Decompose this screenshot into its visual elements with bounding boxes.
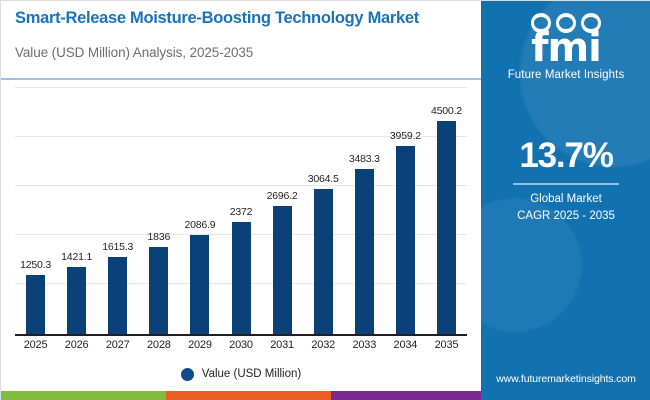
x-axis-label: 2033: [344, 339, 385, 357]
bar-value-label: 3959.2: [390, 130, 421, 142]
bar-group: 4500.2: [426, 87, 467, 334]
x-axis-label: 2028: [138, 339, 179, 357]
bar-group: 3483.3: [344, 87, 385, 334]
plot-area: 1250.31421.11615.318362086.923722696.230…: [15, 87, 467, 335]
chart-subtitle: Value (USD Million) Analysis, 2025-2035: [15, 45, 253, 60]
logo-wordmark: fmi: [481, 27, 650, 69]
cagr-caption-line-1: Global Market: [481, 193, 650, 205]
bar-value-label: 1250.3: [20, 259, 51, 271]
bar-group: 2696.2: [262, 87, 303, 334]
strip-segment-green: [1, 391, 166, 400]
bar-value-label: 1615.3: [102, 241, 133, 253]
bar[interactable]: [396, 146, 415, 334]
bar-group: 3064.5: [303, 87, 344, 334]
bar-value-label: 1836: [148, 231, 171, 243]
bar[interactable]: [149, 247, 168, 334]
x-axis-label: 2034: [385, 339, 426, 357]
bar[interactable]: [232, 222, 251, 334]
legend-label: Value (USD Million): [202, 368, 301, 380]
bar-value-label: 1421.1: [61, 251, 92, 263]
chart-legend: Value (USD Million): [1, 363, 481, 385]
bar-value-label: 2696.2: [267, 190, 298, 202]
bar-group: 2372: [220, 87, 261, 334]
bar-group: 1836: [138, 87, 179, 334]
color-strip: [1, 391, 481, 400]
bar-series: 1250.31421.11615.318362086.923722696.230…: [15, 87, 467, 334]
chart-header: Smart-Release Moisture-Boosting Technolo…: [1, 1, 481, 79]
chart-infographic: Smart-Release Moisture-Boosting Technolo…: [0, 0, 650, 400]
bar[interactable]: [314, 189, 333, 334]
legend-marker-icon: [181, 368, 194, 381]
bar[interactable]: [108, 257, 127, 334]
bar-value-label: 4500.2: [431, 105, 462, 117]
bar-group: 1421.1: [56, 87, 97, 334]
bar[interactable]: [190, 235, 209, 334]
page-title: Smart-Release Moisture-Boosting Technolo…: [15, 9, 475, 28]
x-axis-labels: 2025202620272028202920302031203220332034…: [15, 339, 467, 357]
bar[interactable]: [355, 169, 374, 334]
cagr-caption-line-2: CAGR 2025 - 2035: [481, 210, 650, 222]
x-axis-label: 2031: [262, 339, 303, 357]
x-axis-label: 2032: [303, 339, 344, 357]
chart-region: Smart-Release Moisture-Boosting Technolo…: [1, 1, 481, 400]
bar-group: 2086.9: [179, 87, 220, 334]
website-url: www.futuremarketinsights.com: [481, 373, 650, 385]
bar[interactable]: [67, 267, 86, 334]
x-axis-label: 2027: [97, 339, 138, 357]
bar-value-label: 3483.3: [349, 153, 380, 165]
bar-value-label: 3064.5: [308, 173, 339, 185]
cagr-value: 13.7%: [481, 136, 650, 176]
bar-value-label: 2086.9: [184, 219, 215, 231]
strip-segment-purple: [331, 391, 481, 400]
brand-panel: fmi Future Market Insights 13.7% Global …: [481, 1, 650, 400]
x-axis-label: 2029: [179, 339, 220, 357]
fmi-logo: fmi Future Market Insights: [481, 7, 650, 85]
bar-group: 3959.2: [385, 87, 426, 334]
bar-value-label: 2372: [230, 206, 253, 218]
x-axis-label: 2035: [426, 339, 467, 357]
x-axis-label: 2030: [220, 339, 261, 357]
x-axis-label: 2026: [56, 339, 97, 357]
bar-group: 1615.3: [97, 87, 138, 334]
cagr-divider: [513, 183, 619, 185]
x-axis-label: 2025: [15, 339, 56, 357]
bar[interactable]: [273, 206, 292, 334]
header-divider: [1, 78, 481, 80]
x-axis-line: [15, 334, 467, 336]
bar[interactable]: [26, 275, 45, 334]
bar-group: 1250.3: [15, 87, 56, 334]
logo-tagline: Future Market Insights: [481, 69, 650, 81]
strip-segment-orange: [166, 391, 331, 400]
bar[interactable]: [437, 121, 456, 334]
